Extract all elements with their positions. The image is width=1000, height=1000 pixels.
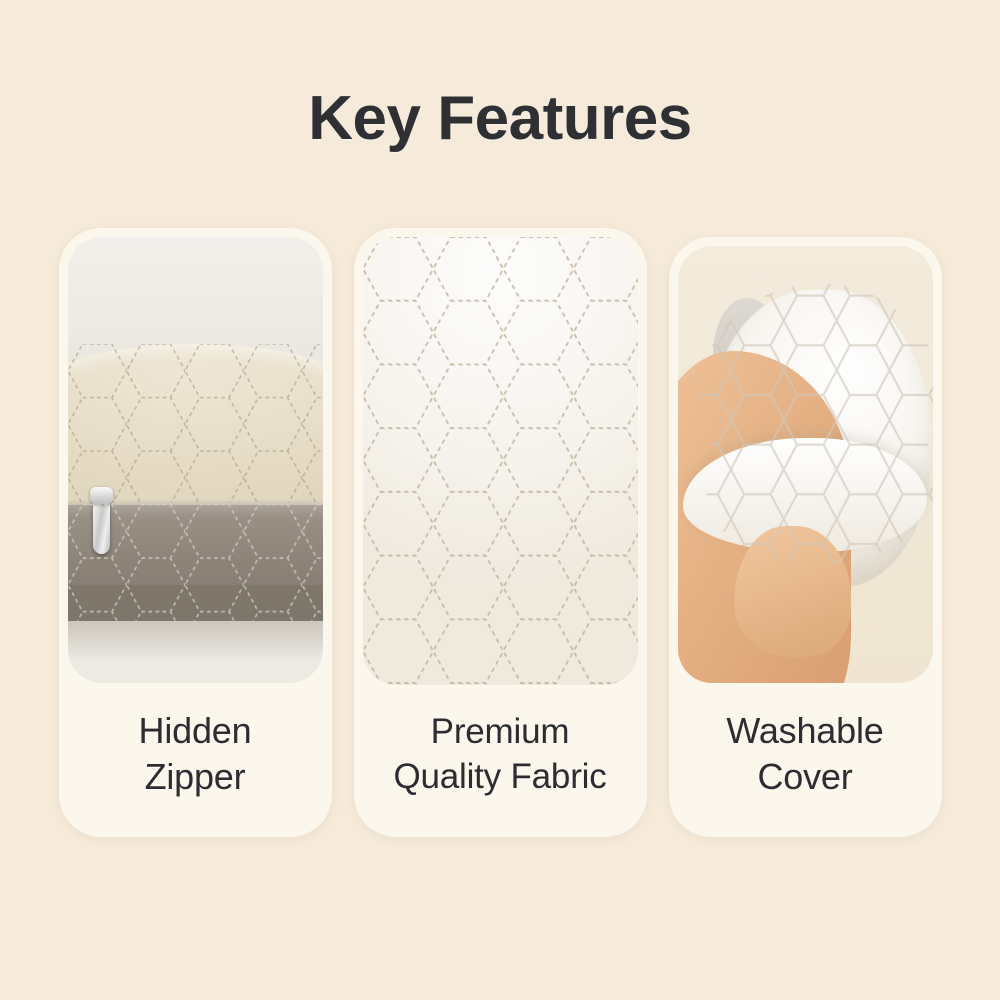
washable-cover-image xyxy=(678,246,933,683)
zipper-pull-icon xyxy=(93,496,110,554)
hidden-zipper-image xyxy=(68,237,323,683)
hand-thumb xyxy=(734,526,851,657)
feature-card-premium-quality-fabric[interactable]: Premium Quality Fabric xyxy=(354,228,647,837)
feature-card-row: Hidden Zipper Premium Quality Fabric xyxy=(0,228,1000,840)
honeycomb-quilt-pattern xyxy=(363,237,638,685)
premium-quality-fabric-label: Premium Quality Fabric xyxy=(393,710,606,800)
premium-quality-fabric-label-area: Premium Quality Fabric xyxy=(354,685,647,837)
hidden-zipper-label-area: Hidden Zipper xyxy=(59,683,332,837)
hidden-zipper-label: Hidden Zipper xyxy=(139,708,252,800)
feature-card-washable-cover[interactable]: Washable Cover xyxy=(669,237,942,837)
photo-shadow xyxy=(68,585,323,683)
washable-cover-label-area: Washable Cover xyxy=(669,683,942,837)
page-title: Key Features xyxy=(0,86,1000,151)
premium-quality-fabric-image xyxy=(363,237,638,685)
washable-cover-label: Washable Cover xyxy=(726,708,883,800)
feature-card-hidden-zipper[interactable]: Hidden Zipper xyxy=(59,228,332,837)
